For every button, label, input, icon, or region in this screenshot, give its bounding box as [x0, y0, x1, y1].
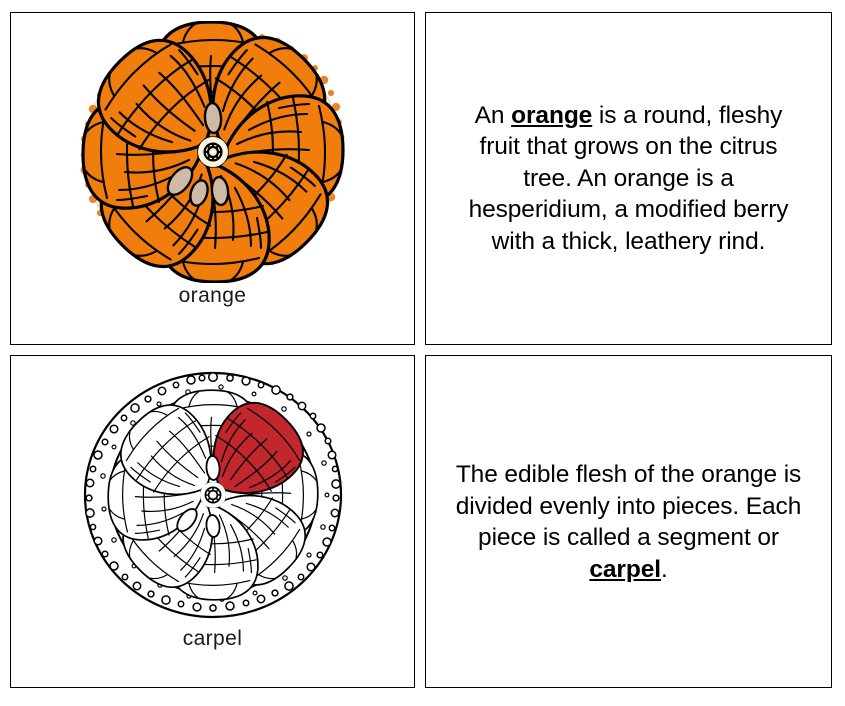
definition-run-1: The edible flesh of the orange is divide… [456, 461, 801, 551]
definition-run-1: An [475, 102, 511, 129]
orange-cross-section-colored-figure [63, 21, 363, 283]
orange-picture-card[interactable]: orange [10, 12, 415, 345]
orange-card-label: orange [179, 285, 247, 306]
nomenclature-card-sheet: orange An orange is a round, fleshy frui… [0, 0, 845, 706]
emphasized-term-orange: orange [511, 102, 592, 129]
carpel-card-label: carpel [183, 628, 243, 649]
carpel-picture-card[interactable]: carpel [10, 355, 415, 688]
orange-definition-card[interactable]: An orange is a round, fleshy fruit that … [425, 12, 832, 345]
definition-run-3: . [661, 556, 668, 583]
carpel-definition-card[interactable]: The edible flesh of the orange is divide… [425, 355, 832, 688]
emphasized-term-carpel: carpel [589, 556, 661, 583]
orange-definition-text: An orange is a round, fleshy fruit that … [452, 100, 805, 258]
carpel-definition-text: The edible flesh of the orange is divide… [452, 459, 805, 585]
orange-cross-section-outline-figure [63, 364, 363, 626]
